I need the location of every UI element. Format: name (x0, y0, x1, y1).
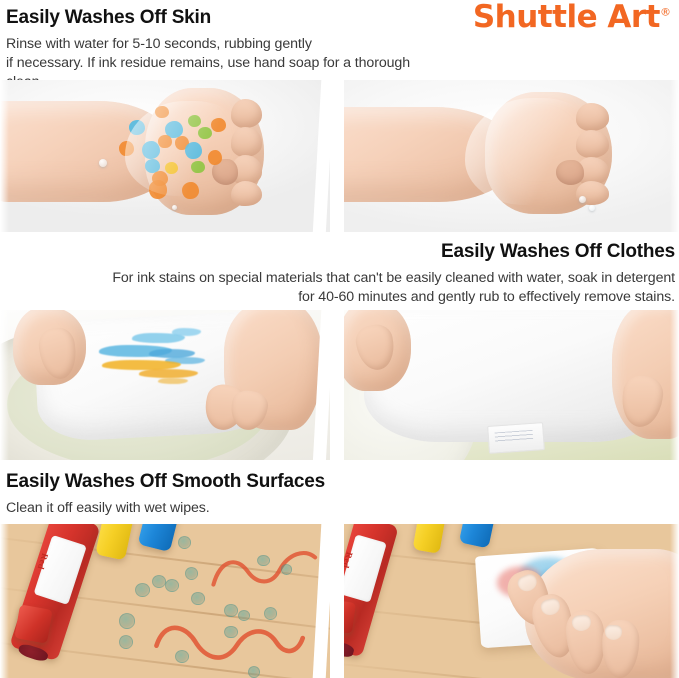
photo-skin-after (344, 80, 679, 232)
hand-wiping (525, 549, 679, 678)
photo-clothes-before (0, 310, 330, 460)
photo-row-surfaces: Red (0, 524, 679, 678)
marker-cap-red (14, 605, 52, 644)
section-surfaces-text: Easily Washes Off Smooth Surfaces Clean … (6, 470, 526, 518)
marker-red-2: Red (344, 524, 399, 657)
photo-row-skin (0, 80, 679, 232)
brand-logo: Shuttle Art® (473, 2, 671, 33)
photo-clothes-after (344, 310, 679, 460)
section-surfaces-body-line-1: Clean it off easily with wet wipes. (6, 499, 526, 518)
section-skin-body-line-1: Rinse with water for 5-10 seconds, rubbi… (6, 35, 446, 54)
marker-blue-2 (459, 524, 501, 548)
registered-trademark-icon: ® (660, 6, 671, 19)
brand-logo-text: Shuttle Art (473, 0, 660, 35)
photo-surfaces-before: Red (0, 524, 330, 678)
red-squiggle-upper (191, 533, 330, 601)
section-clothes-text: Easily Washes Off Clothes For ink stains… (3, 240, 675, 307)
section-clothes-body-line-2: for 40-60 minutes and gently rub to effe… (3, 288, 675, 307)
section-clothes-body-line-1: For ink stains on special materials that… (3, 269, 675, 288)
section-clothes-heading: Easily Washes Off Clothes (3, 240, 675, 264)
shirt-care-label (487, 422, 544, 453)
section-skin-heading: Easily Washes Off Skin (6, 6, 446, 30)
photo-surfaces-after: Red (344, 524, 679, 678)
photo-row-clothes (0, 310, 679, 460)
photo-skin-before (0, 80, 330, 232)
marker-yellow-2 (412, 524, 450, 554)
infographic-page: Shuttle Art® Easily Washes Off Skin Rins… (0, 0, 679, 678)
marker-red: Red (9, 524, 100, 661)
section-surfaces-heading: Easily Washes Off Smooth Surfaces (6, 470, 526, 494)
